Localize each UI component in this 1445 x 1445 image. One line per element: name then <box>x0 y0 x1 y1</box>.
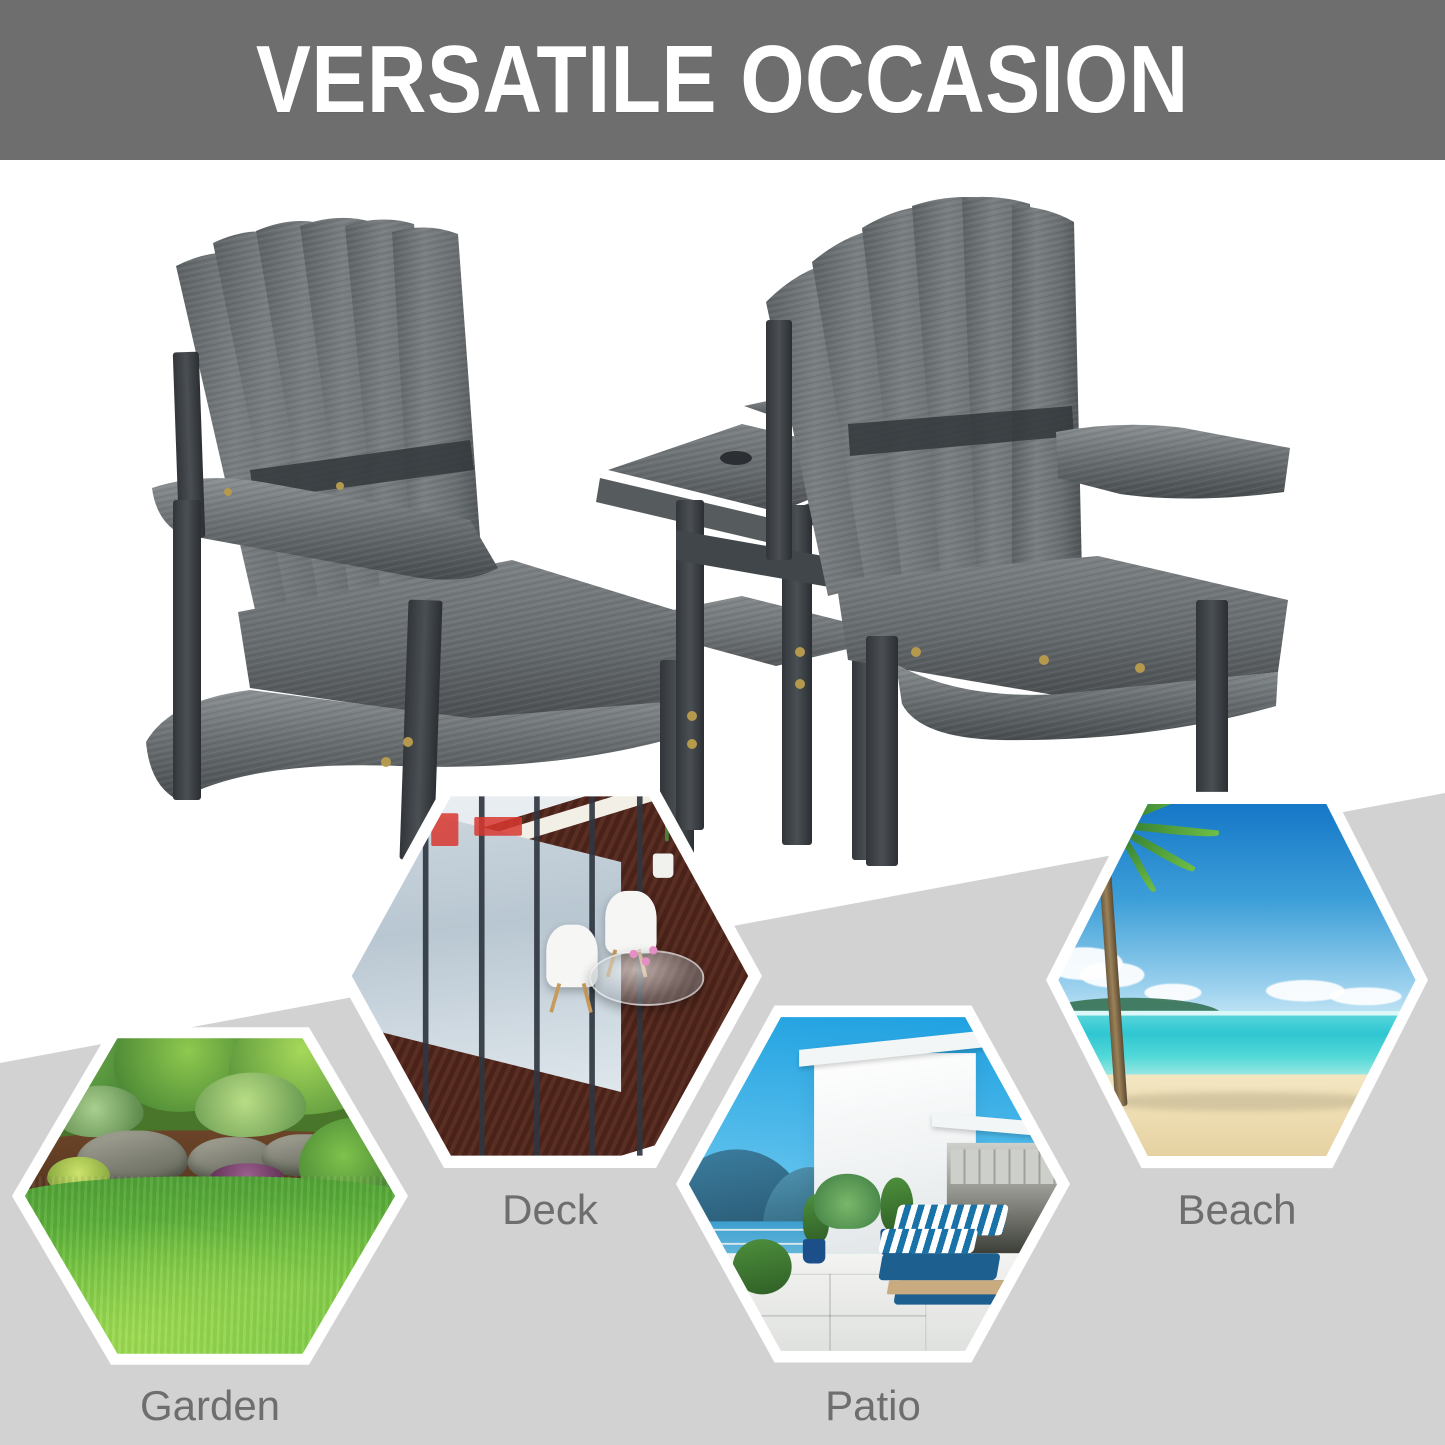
deck-chair <box>606 891 658 954</box>
patio-photo <box>689 1012 1057 1356</box>
deck-photo <box>352 791 748 1161</box>
beach-palm-shadow <box>1101 1092 1387 1110</box>
patio-blue-lounger <box>878 1253 1001 1281</box>
occasion-label-beach: Beach <box>1046 1186 1428 1234</box>
deck-planter <box>653 854 674 878</box>
deck-red-panel <box>431 813 459 846</box>
garden-hosta <box>195 1072 306 1137</box>
occasion-label-patio: Patio <box>676 1382 1070 1430</box>
right-chair-back-slats <box>766 197 1082 596</box>
patio-blue-pot <box>803 1239 825 1263</box>
patio-kitchen-cabinets <box>950 1150 1057 1184</box>
deck-window-mullion <box>423 791 429 1161</box>
occasion-label-garden: Garden <box>12 1382 408 1430</box>
deck-scene <box>352 791 748 1161</box>
deck-window-mullion <box>534 791 540 1161</box>
patio-palm <box>814 1174 880 1229</box>
patio-shrub <box>733 1239 792 1294</box>
deck-window-mullion <box>479 791 485 1161</box>
product-marketing-image: Garden <box>0 0 1445 1445</box>
beach-photo <box>1058 799 1415 1162</box>
patio-lounger-frame <box>887 1280 1015 1294</box>
deck-flower <box>629 950 637 958</box>
deck-red-panel <box>475 817 523 836</box>
beach-cloud <box>1330 987 1401 1005</box>
deck-plant <box>665 813 669 841</box>
page-title: VERSATILE OCCASION <box>256 32 1189 128</box>
header-banner: VERSATILE OCCASION <box>0 0 1445 160</box>
patio-floor-tile <box>829 1315 927 1356</box>
right-chair <box>766 197 1290 866</box>
deck-flower <box>641 957 649 965</box>
patio-scene <box>689 1012 1057 1356</box>
beach-scene <box>1058 799 1415 1162</box>
patio-striped-lounger <box>878 1229 979 1253</box>
